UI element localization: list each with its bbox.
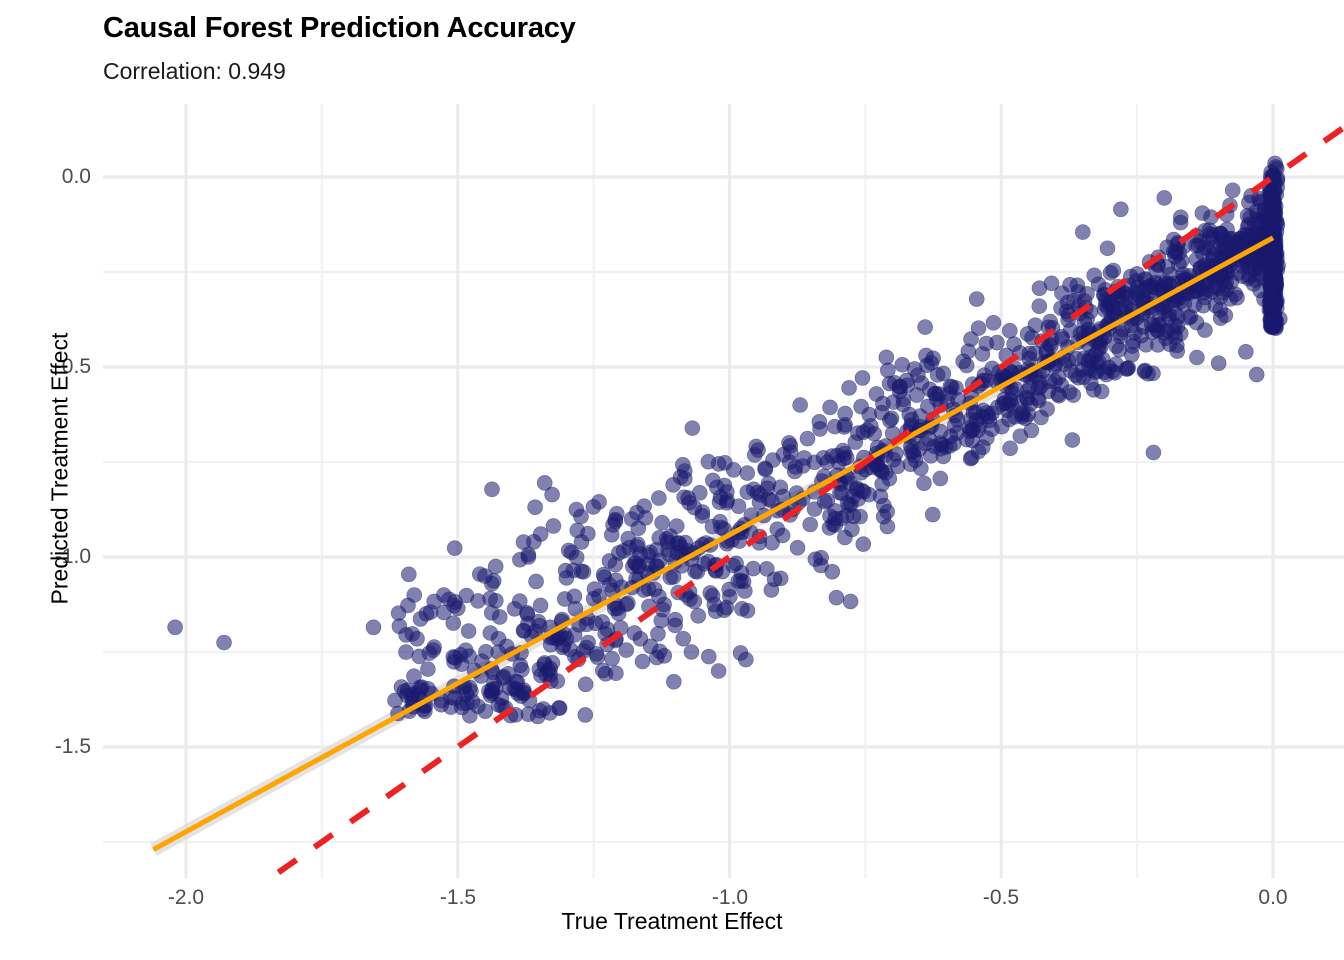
y-axis-label: Predicted Treatment Effect: [47, 189, 74, 749]
scatter-plot-svg: [103, 104, 1344, 878]
scatter-points: [168, 156, 1288, 724]
chart-root: Causal Forest Prediction Accuracy Correl…: [0, 0, 1344, 960]
x-axis-label: True Treatment Effect: [0, 908, 1344, 935]
x-tick-label: -2.0: [168, 886, 204, 910]
x-tick-label: -0.5: [983, 886, 1019, 910]
page-title: Causal Forest Prediction Accuracy: [103, 12, 576, 45]
x-tick-label: -1.0: [712, 886, 748, 910]
x-tick-label: 0.0: [1258, 886, 1287, 910]
chart-subtitle: Correlation: 0.949: [103, 58, 286, 85]
plot-panel: [103, 104, 1344, 878]
x-tick-label: -1.5: [440, 886, 476, 910]
reference-line-identity: [278, 128, 1343, 873]
y-tick-label: 0.0: [62, 165, 91, 189]
